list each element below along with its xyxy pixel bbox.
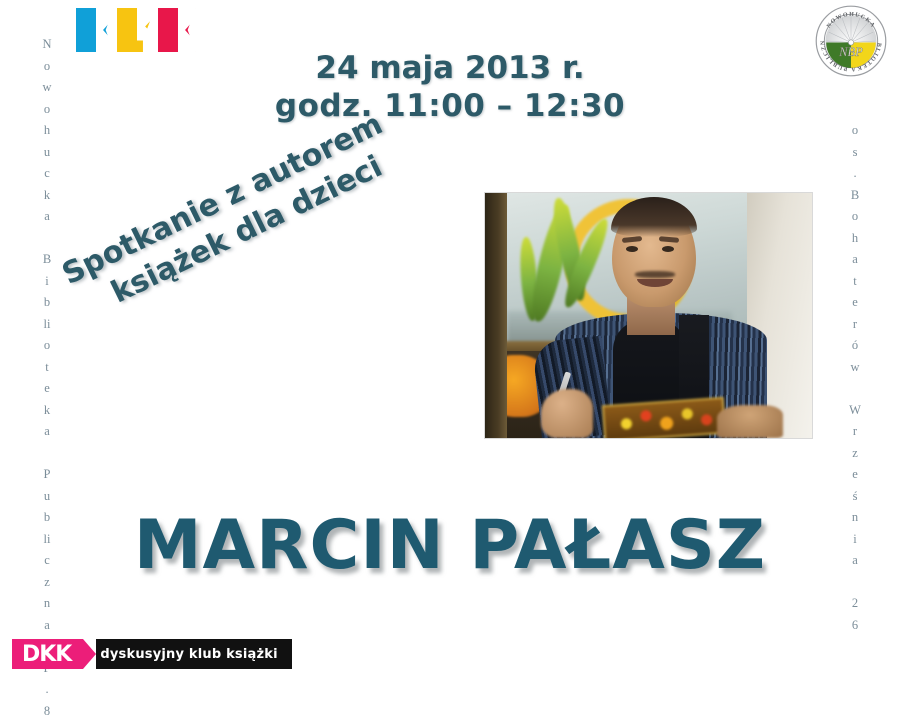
vertical-caption-char: P	[30, 464, 64, 486]
vertical-caption-char: b	[30, 292, 64, 314]
left-vertical-address: Nowohucka Biblioteka Publiczna F.8	[30, 34, 64, 722]
vertical-caption-char: B	[838, 185, 872, 207]
author-name-title: MARCIN PAŁASZ	[0, 512, 900, 580]
vertical-caption-char: o	[838, 206, 872, 228]
krk-letter-1: K	[76, 8, 114, 52]
krk-letter-2: R	[117, 8, 155, 52]
photo-moustache	[635, 271, 675, 278]
vertical-caption-char: r	[838, 421, 872, 443]
vertical-caption-char: ś	[838, 486, 872, 508]
vertical-caption-char: o	[30, 335, 64, 357]
photo-window-frame	[485, 193, 507, 438]
photo-eye	[626, 246, 638, 252]
dkk-mark-label: DKK	[12, 639, 83, 669]
vertical-caption-char: z	[838, 443, 872, 465]
vertical-caption-char: k	[30, 400, 64, 422]
krk-letter-3: K	[158, 8, 196, 52]
krk-logo: K R K	[76, 8, 196, 52]
vertical-caption-char: 6	[838, 615, 872, 637]
vertical-caption-char: u	[30, 142, 64, 164]
vertical-caption-char: e	[30, 378, 64, 400]
vertical-caption-char: 2	[838, 593, 872, 615]
vertical-caption-char: t	[838, 271, 872, 293]
event-time: godz. 11:00 – 12:30	[0, 88, 900, 126]
vertical-caption-char: r	[838, 314, 872, 336]
vertical-caption-char: e	[838, 292, 872, 314]
photo-hand	[717, 405, 783, 438]
event-date: 24 maja 2013 r.	[0, 50, 900, 88]
vertical-caption-char: a	[30, 206, 64, 228]
vertical-caption-char: .	[30, 679, 64, 701]
vertical-caption-char	[30, 228, 64, 250]
photo-hand	[541, 389, 593, 438]
vertical-caption-char: k	[30, 185, 64, 207]
vertical-caption-char	[30, 443, 64, 465]
vertical-caption-char: a	[30, 615, 64, 637]
vertical-caption-char: c	[30, 163, 64, 185]
vertical-caption-char: a	[30, 421, 64, 443]
vertical-caption-char: ó	[838, 335, 872, 357]
author-photo	[485, 193, 812, 438]
event-date-block: 24 maja 2013 r. godz. 11:00 – 12:30	[0, 50, 900, 126]
photo-book	[602, 397, 726, 438]
vertical-caption-char: 8	[30, 701, 64, 722]
dkk-tagline: dyskusyjny klub książki	[96, 639, 291, 669]
vertical-caption-char: n	[30, 593, 64, 615]
vertical-caption-char: .	[838, 163, 872, 185]
photo-eye	[662, 246, 674, 252]
diagonal-headline: Spotkanie z autorem książek dla dzieci	[56, 102, 413, 329]
vertical-caption-char: u	[30, 486, 64, 508]
vertical-caption-char: i	[30, 271, 64, 293]
vertical-caption-char: t	[30, 357, 64, 379]
vertical-caption-char: W	[838, 400, 872, 422]
vertical-caption-char	[838, 378, 872, 400]
vertical-caption-char: e	[838, 464, 872, 486]
vertical-caption-char: h	[838, 228, 872, 250]
vertical-caption-char: a	[838, 249, 872, 271]
vertical-caption-char: s	[838, 142, 872, 164]
vertical-caption-char: w	[838, 357, 872, 379]
vertical-caption-char: li	[30, 314, 64, 336]
dkk-arrow-icon	[83, 639, 96, 669]
dkk-footer-logo: DKK dyskusyjny klub książki	[12, 639, 292, 669]
